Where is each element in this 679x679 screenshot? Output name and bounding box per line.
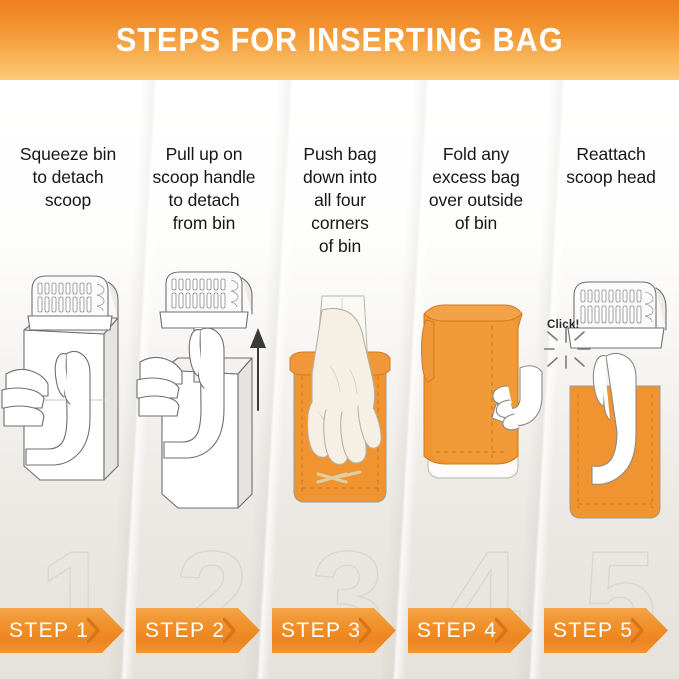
caption-line: Fold any xyxy=(408,143,544,166)
step-banner-label: STEP 3 xyxy=(281,608,361,653)
chevron-right-icon xyxy=(495,618,508,643)
illustration-step-1 xyxy=(0,270,136,530)
caption-line: to detach xyxy=(0,166,136,189)
illustration-step-4 xyxy=(408,270,544,530)
step-banner-5[interactable]: STEP 5 xyxy=(544,608,668,653)
step-caption-1: Squeeze bin to detach scoop xyxy=(0,143,136,212)
caption-line: corners xyxy=(272,212,408,235)
chevron-right-icon xyxy=(359,618,372,643)
step-caption-2: Pull up on scoop handle to detach from b… xyxy=(136,143,272,235)
caption-line: Squeeze bin xyxy=(0,143,136,166)
page-title: STEPS FOR INSERTING BAG xyxy=(0,21,679,59)
step-banner-label: STEP 2 xyxy=(145,608,225,653)
caption-line: over outside xyxy=(408,189,544,212)
illustration-step-3 xyxy=(272,270,408,530)
step-banner-2[interactable]: STEP 2 xyxy=(136,608,260,653)
caption-line: from bin xyxy=(136,212,272,235)
step-caption-3: Push bag down into all four corners of b… xyxy=(272,143,408,258)
illustration-step-5 xyxy=(544,270,679,530)
header-banner: STEPS FOR INSERTING BAG xyxy=(0,0,679,80)
step-banner-4[interactable]: STEP 4 xyxy=(408,608,532,653)
steps-stage: 1 2 3 4 5 Squeeze bin to detach scoop Pu… xyxy=(0,80,679,679)
step-banner-3[interactable]: STEP 3 xyxy=(272,608,396,653)
page-title-text: STEPS FOR INSERTING BAG xyxy=(116,21,564,59)
caption-line: scoop xyxy=(0,189,136,212)
chevron-right-icon xyxy=(631,618,644,643)
caption-line: all four xyxy=(272,189,408,212)
caption-line: scoop handle xyxy=(136,166,272,189)
caption-line: down into xyxy=(272,166,408,189)
chevron-right-icon xyxy=(223,618,236,643)
illustration-step-2 xyxy=(136,270,272,530)
caption-line: excess bag xyxy=(408,166,544,189)
click-annotation: Click! xyxy=(547,319,580,331)
caption-line: of bin xyxy=(272,235,408,258)
caption-line: scoop head xyxy=(543,166,679,189)
step-banner-label: STEP 1 xyxy=(9,608,89,653)
chevron-right-icon xyxy=(87,618,100,643)
caption-line: Pull up on xyxy=(136,143,272,166)
step-caption-5: Reattach scoop head xyxy=(543,143,679,189)
caption-line: of bin xyxy=(408,212,544,235)
step-banner-1[interactable]: STEP 1 xyxy=(0,608,124,653)
step-banner-label: STEP 4 xyxy=(417,608,497,653)
caption-line: Reattach xyxy=(543,143,679,166)
step-banner-label: STEP 5 xyxy=(553,608,633,653)
step-caption-4: Fold any excess bag over outside of bin xyxy=(408,143,544,235)
infographic-page: STEPS FOR INSERTING BAG 1 2 3 4 5 Squeez… xyxy=(0,0,679,679)
caption-line: Push bag xyxy=(272,143,408,166)
caption-line: to detach xyxy=(136,189,272,212)
